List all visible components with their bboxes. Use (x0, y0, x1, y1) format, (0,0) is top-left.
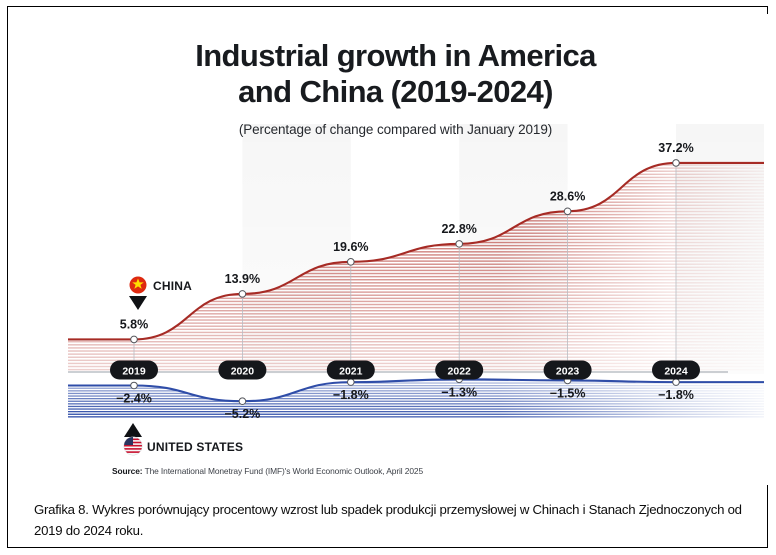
china-value-label: 19.6% (333, 240, 368, 254)
china-area-fill (68, 133, 764, 373)
chart-subtitle: (Percentage of change compared with Janu… (16, 122, 775, 137)
year-label: 2019 (122, 366, 146, 378)
title-line-2: and China (2019-2024) (16, 74, 775, 110)
china-value-label: 5.8% (120, 317, 149, 331)
china-value-label: 13.9% (225, 272, 260, 286)
screenshot-root: 5.8%13.9%19.6%22.8%28.6%37.2% −2.4%−5.2%… (0, 0, 776, 555)
china-value-label: 37.2% (658, 141, 693, 155)
title-line-1: Industrial growth in America (16, 38, 775, 74)
year-pill-2020[interactable]: 2020 (218, 361, 266, 380)
page-title: Industrial growth in America and China (… (16, 38, 775, 111)
year-pill-2023[interactable]: 2023 (544, 361, 592, 380)
year-pill-2022[interactable]: 2022 (435, 361, 483, 380)
legend-china: CHINA (129, 277, 192, 311)
china-pointer-icon (129, 296, 147, 310)
year-pill-2021[interactable]: 2021 (327, 361, 375, 380)
us-value-label: −1.8% (658, 388, 694, 402)
year-label: 2021 (339, 366, 363, 378)
us-value-label: −1.3% (441, 385, 477, 399)
year-label: 2024 (664, 366, 688, 378)
us-value-label: −2.4% (116, 391, 152, 405)
us-legend-label: UNITED STATES (147, 440, 243, 454)
usa-flag-stripes-icon (124, 437, 142, 455)
us-pointer-icon (124, 423, 142, 437)
title-block: Industrial growth in America and China (… (16, 38, 775, 137)
source-note: Source: The International Monetray Fund … (112, 466, 423, 476)
document-frame: 5.8%13.9%19.6%22.8%28.6%37.2% −2.4%−5.2%… (7, 6, 768, 548)
us-value-label: −1.8% (333, 388, 369, 402)
figure-caption: Grafika 8. Wykres porównujący procentowy… (16, 485, 761, 553)
legend-united-states: UNITED STATES (124, 423, 243, 455)
china-value-label: 22.8% (441, 222, 476, 236)
us-value-label: −1.5% (550, 386, 586, 400)
year-label: 2020 (231, 366, 255, 378)
year-label: 2023 (556, 366, 580, 378)
year-pill-2024[interactable]: 2024 (652, 361, 700, 380)
source-text: The International Monetray Fund (IMF)'s … (145, 466, 423, 476)
year-pill-2019[interactable]: 2019 (110, 361, 158, 380)
figure-image: 5.8%13.9%19.6%22.8%28.6%37.2% −2.4%−5.2%… (16, 14, 775, 485)
us-value-label: −5.2% (225, 407, 261, 421)
china-legend-label: CHINA (153, 279, 192, 293)
china-value-label: 28.6% (550, 189, 585, 203)
year-label: 2022 (448, 366, 472, 378)
source-label: Source: (112, 466, 142, 476)
